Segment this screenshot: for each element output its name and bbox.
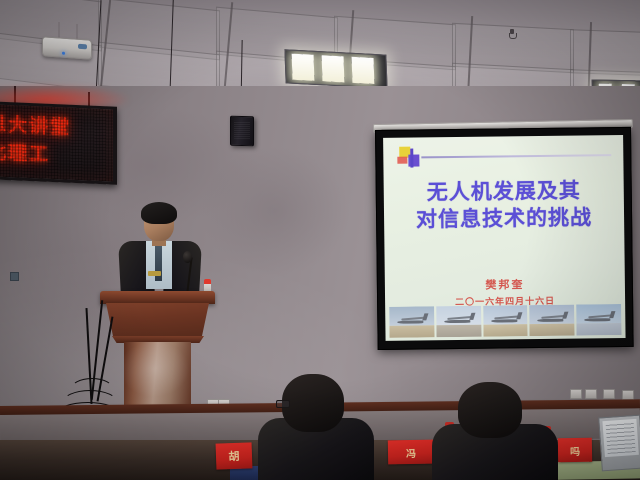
eyeglasses (276, 400, 290, 408)
slide-title-line-2: 对信息技术的挑战 (384, 204, 624, 234)
presenter-badge (148, 271, 161, 276)
slide-author: 樊邦奎 (385, 275, 625, 294)
podium-front-panel (106, 303, 209, 337)
drone-photo-3 (483, 305, 528, 337)
slide-drone-image-strip (389, 304, 621, 338)
projector-mount-stem-2 (76, 24, 78, 40)
wall-outlet-right-3 (603, 389, 615, 399)
audience-right-head (458, 382, 522, 438)
fluorescent-panel-light (284, 49, 387, 88)
name-card-2: 冯 (388, 440, 434, 465)
audience-member-left (258, 374, 378, 480)
presenter-hair (141, 202, 177, 224)
sprinkler-head (509, 29, 515, 38)
microphone-icon (183, 251, 192, 263)
name-card-2-text: 冯 (406, 444, 416, 459)
slide-title-line-1: 无人机发展及其 (384, 177, 624, 207)
led-marquee-sign: 思大讲堂 北理工 (0, 101, 117, 184)
name-card-1-text: 胡 (228, 448, 240, 464)
laptop (598, 415, 640, 472)
drone-photo-2 (436, 306, 481, 338)
name-card-1: 胡 (216, 442, 253, 469)
led-sign-line-2: 北理工 (0, 137, 50, 167)
podium-top (100, 291, 215, 304)
projector-status-led (62, 52, 65, 55)
drone-photo-1 (389, 306, 434, 338)
wall-outlet-right-2 (585, 389, 597, 399)
slide-title: 无人机发展及其 对信息技术的挑战 (384, 177, 625, 235)
laptop-screen (602, 419, 638, 457)
name-card-3-text: 吗 (570, 442, 580, 457)
projector-lens (78, 44, 87, 50)
name-card-3: 吗 (558, 438, 592, 463)
led-sign-line-1: 思大讲堂 (0, 109, 71, 140)
projection-screen-frame: 无人机发展及其 对信息技术的挑战 樊邦奎 二〇一六年四月十六日 (375, 127, 634, 350)
wall-plate (10, 272, 19, 281)
drone-photo-5 (576, 304, 621, 336)
audience-left-head (282, 374, 344, 432)
lecture-hall-photo: 思大讲堂 北理工 无人机发展及其 对信息技术的挑战 樊邦奎 二〇一六年四月十六日 (0, 0, 640, 480)
audience-member-right (432, 382, 562, 480)
drone-photo-4 (530, 305, 575, 337)
wall-outlet-right (570, 389, 582, 399)
ceiling-projector (42, 36, 92, 59)
slide-decorative-motif (397, 146, 423, 168)
slide-rule-line (421, 154, 611, 158)
projected-slide: 无人机发展及其 对信息技术的挑战 樊邦奎 二〇一六年四月十六日 (383, 135, 625, 341)
wall-speaker (230, 116, 254, 147)
